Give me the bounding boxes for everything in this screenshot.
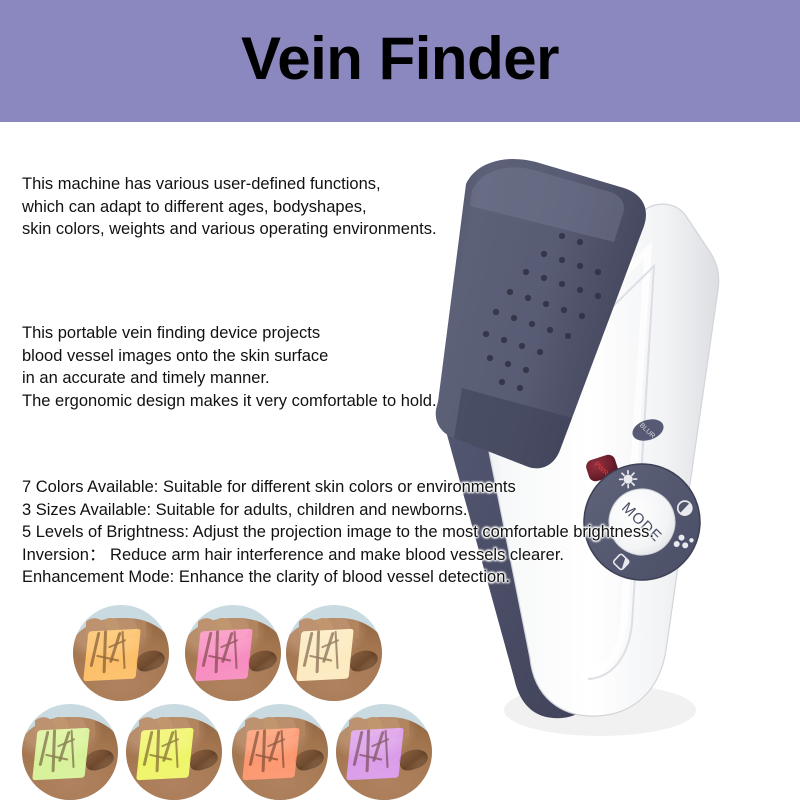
vein-pattern	[243, 728, 300, 781]
vein-pattern	[84, 629, 141, 682]
projection-line-4: The ergonomic design makes it very comfo…	[22, 390, 542, 413]
feature-list: 7 Colors Available: Suitable for differe…	[22, 476, 602, 589]
page-title: Vein Finder	[241, 29, 559, 93]
vein-pattern	[137, 728, 194, 781]
color-sample-orange: orange	[73, 605, 169, 701]
intro-line-3: skin colors, weights and various operati…	[22, 218, 542, 241]
header-band: Vein Finder	[0, 0, 800, 122]
projection-line-1: This portable vein finding device projec…	[22, 322, 542, 345]
color-sample-red: red	[232, 704, 328, 800]
product-infographic: Vein Finder	[0, 0, 800, 800]
vein-pattern	[196, 629, 253, 682]
projection-paragraph: This portable vein finding device projec…	[22, 322, 542, 412]
feature-inversion: Inversion： Reduce arm hair interference …	[22, 544, 602, 567]
color-sample-yellow-green: yellow-green	[126, 704, 222, 800]
vein-pattern	[33, 728, 90, 781]
vein-pattern	[297, 629, 354, 682]
feature-brightness: 5 Levels of Brightness: Adjust the proje…	[22, 521, 602, 544]
intro-line-1: This machine has various user-defined fu…	[22, 173, 542, 196]
color-sample-cream: cream	[286, 605, 382, 701]
intro-paragraph: This machine has various user-defined fu…	[22, 173, 542, 241]
feature-sizes: 3 Sizes Available: Suitable for adults, …	[22, 499, 602, 522]
color-sample-purple: purple	[336, 704, 432, 800]
projection-line-3: in an accurate and timely manner.	[22, 367, 542, 390]
projection-line-2: blood vessel images onto the skin surfac…	[22, 345, 542, 368]
feature-enhancement: Enhancement Mode: Enhance the clarity of…	[22, 566, 602, 589]
intro-line-2: which can adapt to different ages, bodys…	[22, 196, 542, 219]
vein-pattern	[347, 728, 404, 781]
color-sample-green: green	[22, 704, 118, 800]
color-sample-grid: orange magenta cream	[0, 592, 460, 800]
feature-colors: 7 Colors Available: Suitable for differe…	[22, 476, 602, 499]
color-sample-magenta: magenta	[185, 605, 281, 701]
